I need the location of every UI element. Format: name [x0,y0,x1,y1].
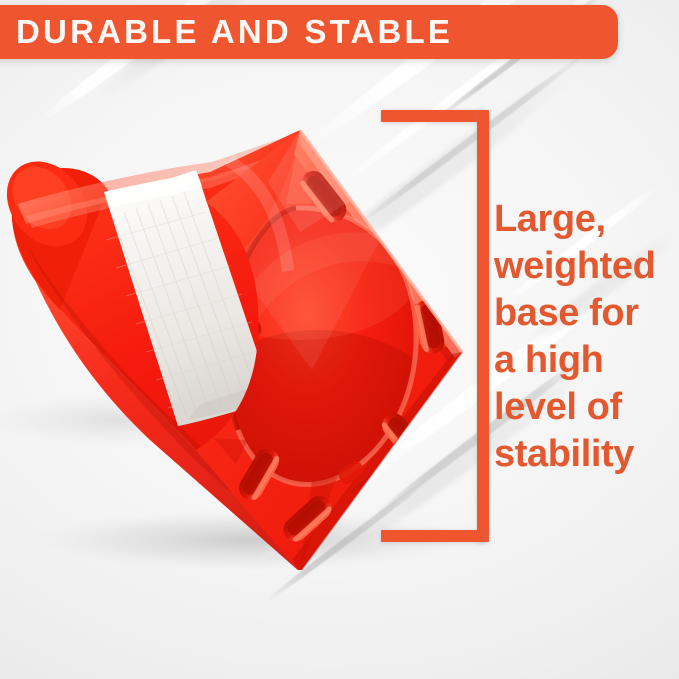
callout-line-4: a high [494,337,679,384]
bracket-vertical [477,110,489,542]
callout-line-1: Large, [494,196,679,243]
product-infographic-canvas: DURABLE AND STABLE Large, weighted base … [0,0,679,679]
callout-bracket [381,110,489,542]
callout-text: Large, weighted base for a high level of… [494,196,679,478]
callout-line-6: stability [494,431,679,478]
callout-line-5: level of [494,384,679,431]
banner-title: DURABLE AND STABLE [0,5,618,59]
header-banner: DURABLE AND STABLE [0,5,618,59]
bracket-top-arm [381,110,486,122]
callout-line-3: base for [494,290,679,337]
bracket-bottom-arm [381,530,486,542]
callout-line-2: weighted [494,243,679,290]
